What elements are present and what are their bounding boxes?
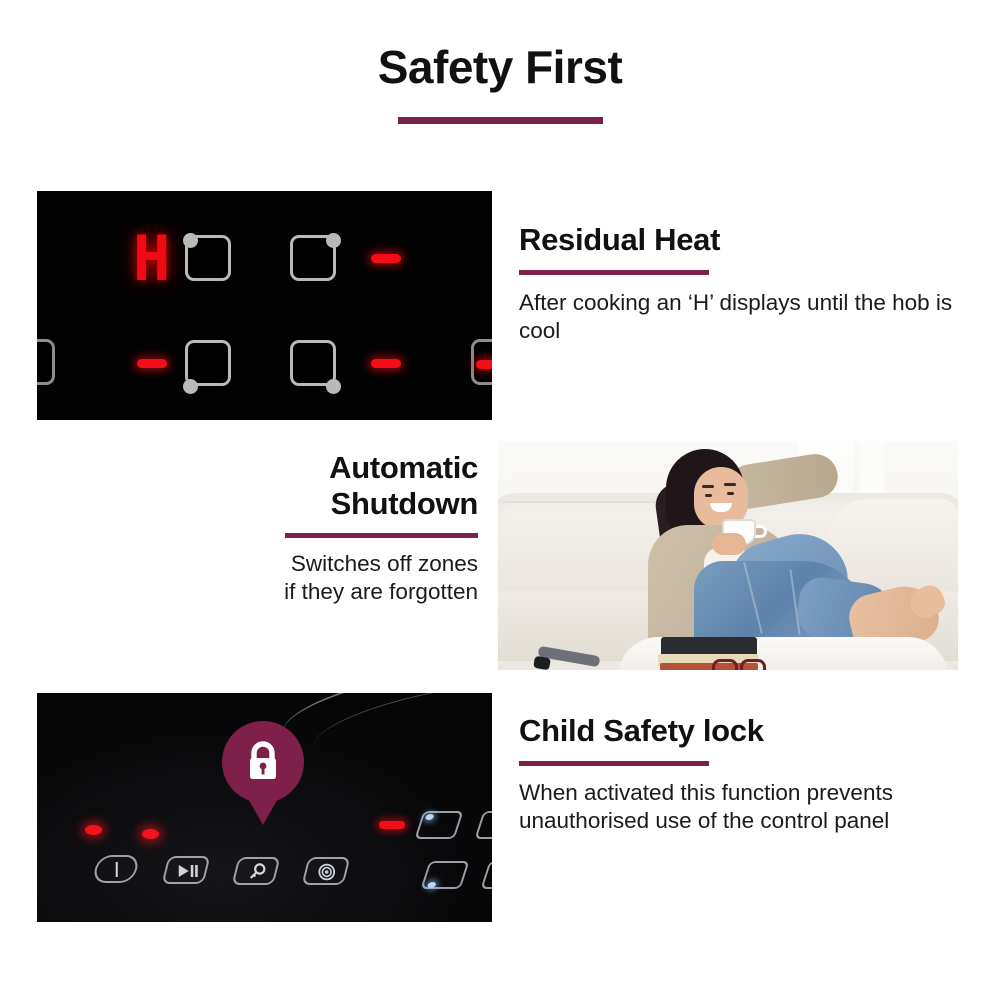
child-safety-lock-body: When activated this function prevents un…	[519, 779, 959, 836]
power-icon	[97, 857, 137, 883]
hob-edge-button	[471, 339, 492, 385]
hob-led-indicator	[142, 829, 159, 839]
residual-heat-body: After cooking an ‘H’ displays until the …	[519, 289, 959, 346]
child-safety-lock-underline	[519, 761, 709, 766]
automatic-shutdown-underline	[285, 533, 478, 538]
hob-zone-dot-icon	[326, 379, 341, 394]
page-title: Safety First	[0, 40, 1000, 94]
automatic-shutdown-heading-line-1: Automatic	[40, 450, 478, 486]
hob-child-lock-button[interactable]	[232, 857, 281, 885]
hob-zone-dot-icon	[183, 379, 198, 394]
padlock-icon	[242, 739, 284, 785]
hob-zone-square	[185, 340, 231, 386]
hob-zone-square	[290, 235, 336, 281]
automatic-shutdown-lifestyle-image	[498, 441, 958, 670]
residual-heat-heading: Residual Heat	[519, 222, 959, 258]
hob-edge-button	[37, 339, 55, 385]
page-title-underline	[398, 117, 603, 124]
photo-remote	[533, 656, 551, 670]
residual-heat-text-block: Residual Heat After cooking an ‘H’ displ…	[519, 222, 959, 346]
pause-icon	[167, 858, 207, 884]
hob-zone-dot-icon	[326, 233, 341, 248]
key-lock-icon	[237, 859, 277, 885]
residual-heat-h-indicator: H	[133, 228, 170, 290]
child-safety-lock-text-block: Child Safety lock When activated this fu…	[519, 713, 959, 836]
hob-zone-dot-icon	[183, 233, 198, 248]
hob-dash-indicator	[476, 360, 492, 369]
photo-woman-eye	[705, 494, 712, 497]
hob-power-button[interactable]	[92, 855, 141, 883]
automatic-shutdown-heading-line-2: Shutdown	[40, 486, 478, 522]
timer-icon	[307, 859, 347, 885]
hob-dash-indicator	[379, 821, 405, 829]
hob-led-indicator	[85, 825, 102, 835]
infographic-page: Safety First H Residual Heat After cooki	[0, 0, 1000, 1000]
photo-woman-brow	[702, 485, 714, 488]
hob-pause-button[interactable]	[162, 856, 211, 884]
photo-woman-hand	[712, 533, 746, 555]
hob-dash-indicator	[371, 254, 401, 263]
hob-timer-button[interactable]	[302, 857, 351, 885]
photo-woman-brow	[724, 483, 736, 486]
child-lock-marker	[222, 721, 304, 803]
photo-glasses	[712, 659, 738, 670]
residual-heat-hob-image: H	[37, 191, 492, 420]
hob-zone-square	[185, 235, 231, 281]
hob-dash-indicator	[137, 359, 167, 368]
hob-dash-indicator	[371, 359, 401, 368]
residual-heat-underline	[519, 270, 709, 275]
child-safety-lock-heading: Child Safety lock	[519, 713, 959, 749]
automatic-shutdown-text-block: Automatic Shutdown Switches off zones if…	[40, 450, 478, 607]
hob-zone-square	[290, 340, 336, 386]
hob-led-blue-icon	[425, 814, 435, 820]
automatic-shutdown-body-line-1: Switches off zones	[40, 550, 478, 578]
automatic-shutdown-body-line-2: if they are forgotten	[40, 578, 478, 606]
photo-glasses	[740, 659, 766, 670]
photo-woman-eye	[727, 492, 734, 495]
hob-led-blue-icon	[427, 882, 437, 888]
